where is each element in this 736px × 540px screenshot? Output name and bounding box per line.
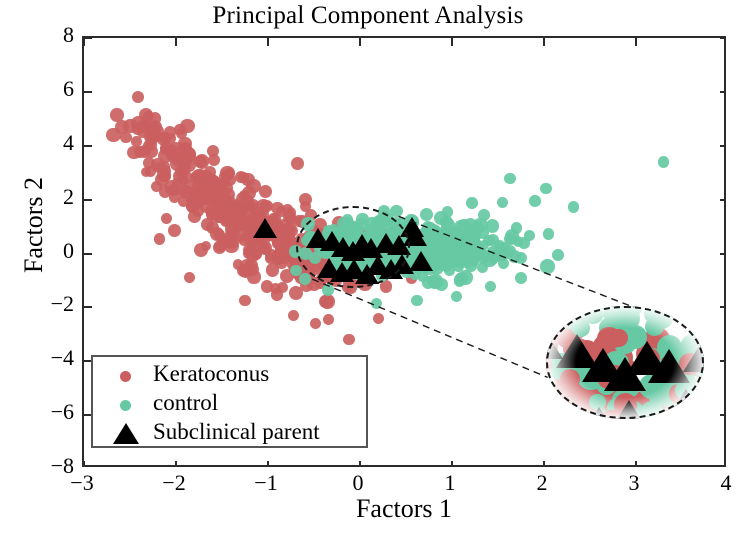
control-point <box>435 278 448 291</box>
keratoconus-point <box>132 91 144 103</box>
y-tick-2: 2 <box>34 184 74 210</box>
x-tick-4: 4 <box>706 470 736 496</box>
keratoconus-point <box>310 318 321 329</box>
control-point <box>451 291 463 303</box>
tick-mark <box>267 461 269 467</box>
tick-mark <box>84 145 92 147</box>
control-point <box>543 228 555 240</box>
keratoconus-point <box>194 243 209 258</box>
keratoconus-point <box>259 185 272 198</box>
legend-label: Subclinical parent <box>153 419 320 445</box>
tick-mark <box>359 461 361 467</box>
x-tick--2: −2 <box>154 470 194 496</box>
legend-label: Keratoconus <box>153 361 269 387</box>
x-tick-1: 1 <box>430 470 470 496</box>
control-point <box>540 259 555 274</box>
control-point <box>515 272 528 285</box>
keratoconus-point <box>246 248 260 262</box>
keratoconus-point <box>261 280 274 293</box>
y-tick--2: −2 <box>34 291 74 317</box>
y-tick-4: 4 <box>34 130 74 156</box>
keratoconus-point <box>168 224 181 237</box>
tick-mark <box>451 461 453 467</box>
x-tick--1: −1 <box>246 470 286 496</box>
keratoconus-point <box>319 295 332 308</box>
tick-mark <box>720 199 726 201</box>
y-tick-8: 8 <box>34 22 74 48</box>
control-point <box>515 252 527 264</box>
pca-scatter-figure: Principal Component Analysis Factors 2 F… <box>0 0 736 540</box>
control-point <box>466 197 478 209</box>
control-point <box>518 237 530 249</box>
control-point <box>442 206 454 218</box>
zoom-inset-circle <box>546 306 704 419</box>
legend-circle-icon <box>120 371 131 382</box>
control-point <box>486 219 500 233</box>
control-point <box>529 195 541 207</box>
keratoconus-point <box>145 166 156 177</box>
keratoconus-point <box>216 178 228 190</box>
tick-mark <box>267 38 269 46</box>
tick-mark <box>84 91 92 93</box>
x-axis-label: Factors 1 <box>82 494 726 524</box>
keratoconus-point <box>373 313 384 324</box>
keratoconus-point <box>212 193 223 204</box>
control-point <box>411 295 423 307</box>
control-point <box>511 222 523 234</box>
legend-item-control[interactable]: control <box>93 391 370 418</box>
keratoconus-point <box>154 233 166 245</box>
control-point <box>477 262 488 273</box>
keratoconus-point <box>208 154 220 166</box>
tick-mark <box>635 461 637 467</box>
keratoconus-point <box>164 126 176 138</box>
tick-mark <box>720 414 726 416</box>
tick-mark <box>83 461 85 467</box>
subclinical-parent-marker <box>409 251 433 271</box>
control-point <box>485 281 497 293</box>
y-tick-6: 6 <box>34 76 74 102</box>
source-circle <box>296 206 410 288</box>
tick-mark <box>720 37 726 39</box>
tick-mark <box>175 461 177 467</box>
x-tick-3: 3 <box>614 470 654 496</box>
control-point <box>540 183 552 195</box>
keratoconus-point <box>106 128 120 142</box>
keratoconus-point <box>205 205 216 216</box>
control-point <box>658 156 670 168</box>
control-point <box>458 270 473 285</box>
control-point <box>299 273 311 285</box>
keratoconus-point <box>110 108 124 122</box>
keratoconus-point <box>277 282 287 292</box>
x-tick--3: −3 <box>62 470 102 496</box>
tick-mark <box>451 38 453 46</box>
tick-mark <box>720 360 726 362</box>
keratoconus-point <box>174 124 185 135</box>
control-point <box>568 201 580 213</box>
keratoconus-point <box>299 193 312 206</box>
keratoconus-point <box>291 157 304 170</box>
tick-mark <box>83 38 85 46</box>
legend-circle-icon <box>120 400 131 411</box>
page-title: Principal Component Analysis <box>0 2 736 30</box>
legend-label: control <box>153 390 218 416</box>
keratoconus-point <box>343 334 354 345</box>
tick-mark <box>720 253 726 255</box>
tick-mark <box>720 306 726 308</box>
control-point <box>437 254 449 266</box>
control-point <box>552 249 564 261</box>
keratoconus-point <box>289 286 303 300</box>
legend-item-subclinical-parent[interactable]: Subclinical parent <box>93 420 370 447</box>
legend-triangle-icon <box>113 423 139 444</box>
tick-mark <box>543 38 545 46</box>
keratoconus-point <box>224 235 238 249</box>
tick-mark <box>635 38 637 46</box>
tick-mark <box>359 38 361 46</box>
tick-mark <box>720 91 726 93</box>
tick-mark <box>84 37 92 39</box>
keratoconus-point <box>120 132 132 144</box>
tick-mark <box>175 38 177 46</box>
keratoconus-point <box>161 213 172 224</box>
legend-item-keratoconus[interactable]: Keratoconus <box>93 362 370 389</box>
control-point <box>478 209 490 221</box>
y-tick--4: −4 <box>34 345 74 371</box>
control-point <box>504 173 516 185</box>
keratoconus-point <box>160 144 170 154</box>
y-tick--6: −6 <box>34 399 74 425</box>
subclinical-parent-marker-magnified <box>696 399 704 419</box>
keratoconus-point <box>169 191 180 202</box>
subclinical-parent-marker <box>253 218 277 238</box>
control-point <box>497 197 509 209</box>
tick-mark <box>84 199 92 201</box>
control-point <box>322 284 334 296</box>
keratoconus-point <box>159 171 170 182</box>
tick-mark <box>84 253 92 255</box>
tick-mark <box>84 306 92 308</box>
keratoconus-point <box>323 314 334 325</box>
y-tick-0: 0 <box>34 238 74 264</box>
x-tick-2: 2 <box>522 470 562 496</box>
keratoconus-point <box>285 213 297 225</box>
keratoconus-point <box>288 310 299 321</box>
control-point <box>371 298 383 310</box>
x-tick-0: 0 <box>338 470 378 496</box>
tick-mark <box>543 461 545 467</box>
keratoconus-point <box>239 295 250 306</box>
control-point <box>483 235 494 246</box>
control-point <box>471 221 483 233</box>
keratoconus-point <box>184 272 195 283</box>
legend: KeratoconuscontrolSubclinical parent <box>91 355 368 448</box>
tick-mark <box>720 145 726 147</box>
keratoconus-point <box>224 168 235 179</box>
